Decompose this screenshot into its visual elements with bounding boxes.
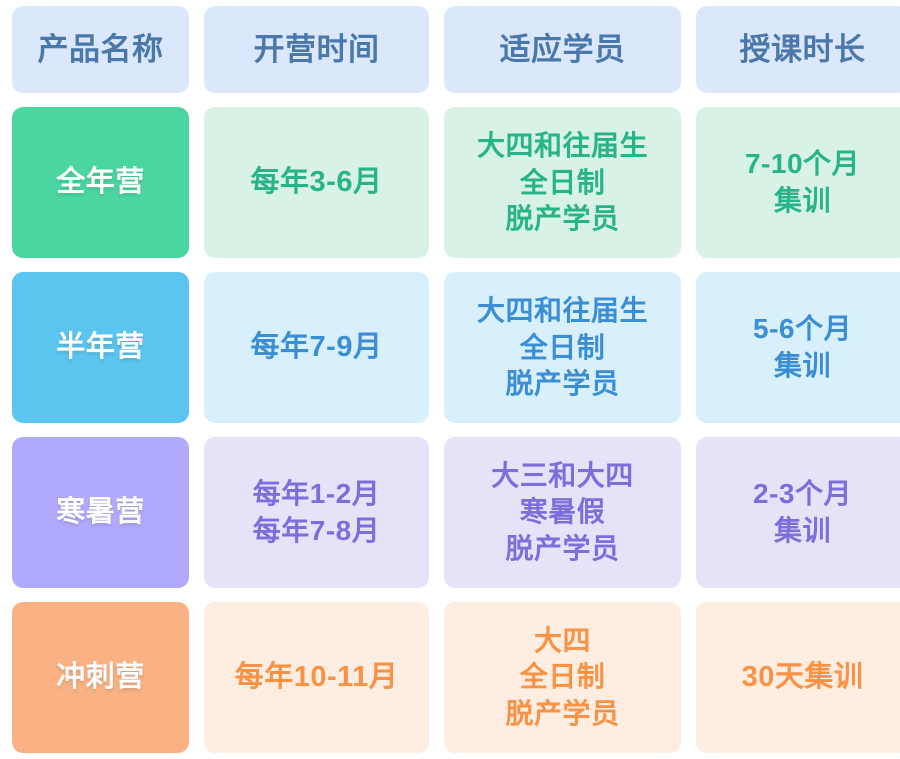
target-students-line: 寒暑假: [491, 494, 634, 530]
column-header-target-students: 适应学员: [444, 6, 681, 93]
target-students-line: 全日制: [477, 330, 648, 366]
course-duration-cell: 2-3个月 集训: [696, 437, 900, 588]
course-duration-line: 集训: [753, 513, 852, 549]
start-time-cell: 每年3-6月: [204, 107, 429, 258]
target-students-line: 大四和往届生: [477, 128, 648, 164]
column-header-start-time: 开营时间: [204, 6, 429, 93]
start-time-line: 每年10-11月: [235, 659, 399, 697]
course-duration-line: 7-10个月: [745, 146, 860, 182]
target-students-cell: 大四和往届生 全日制 脱产学员: [444, 272, 681, 423]
start-time-cell: 每年1-2月 每年7-8月: [204, 437, 429, 588]
start-time-line: 每年7-8月: [253, 513, 380, 549]
product-comparison-table: 产品名称 开营时间 适应学员 授课时长 全年营 每年3-6月 大四和往届生 全日…: [0, 0, 900, 759]
course-duration-cell: 5-6个月 集训: [696, 272, 900, 423]
target-students-line: 全日制: [505, 659, 619, 695]
product-name-cell: 全年营: [12, 107, 189, 258]
target-students-cell: 大四和往届生 全日制 脱产学员: [444, 107, 681, 258]
target-students-line: 全日制: [477, 165, 648, 201]
course-duration-cell: 30天集训: [696, 602, 900, 753]
target-students-line: 大三和大四: [491, 458, 634, 494]
target-students-line: 脱产学员: [491, 531, 634, 567]
course-duration-line: 2-3个月: [753, 476, 852, 512]
product-name-cell: 半年营: [12, 272, 189, 423]
target-students-line: 脱产学员: [505, 696, 619, 732]
course-duration-line: 5-6个月: [753, 311, 852, 347]
target-students-cell: 大四 全日制 脱产学员: [444, 602, 681, 753]
start-time-line: 每年3-6月: [251, 164, 383, 202]
course-duration-line: 集训: [745, 183, 860, 219]
start-time-line: 每年1-2月: [253, 476, 380, 512]
target-students-line: 大四和往届生: [477, 293, 648, 329]
product-name-cell: 冲刺营: [12, 602, 189, 753]
start-time-cell: 每年7-9月: [204, 272, 429, 423]
table-row: 全年营 每年3-6月 大四和往届生 全日制 脱产学员 7-10个月 集训: [12, 107, 888, 258]
start-time-line: 每年7-9月: [251, 329, 383, 367]
start-time-cell: 每年10-11月: [204, 602, 429, 753]
target-students-cell: 大三和大四 寒暑假 脱产学员: [444, 437, 681, 588]
table-header-row: 产品名称 开营时间 适应学员 授课时长: [12, 6, 888, 93]
table-row: 寒暑营 每年1-2月 每年7-8月 大三和大四 寒暑假 脱产学员 2-3个月 集…: [12, 437, 888, 588]
target-students-line: 大四: [505, 623, 619, 659]
target-students-line: 脱产学员: [477, 201, 648, 237]
table-row: 冲刺营 每年10-11月 大四 全日制 脱产学员 30天集训: [12, 602, 888, 753]
column-header-course-duration: 授课时长: [696, 6, 900, 93]
course-duration-cell: 7-10个月 集训: [696, 107, 900, 258]
product-name-cell: 寒暑营: [12, 437, 189, 588]
target-students-line: 脱产学员: [477, 366, 648, 402]
course-duration-line: 30天集训: [742, 659, 864, 697]
column-header-product-name: 产品名称: [12, 6, 189, 93]
course-duration-line: 集训: [753, 348, 852, 384]
table-row: 半年营 每年7-9月 大四和往届生 全日制 脱产学员 5-6个月 集训: [12, 272, 888, 423]
